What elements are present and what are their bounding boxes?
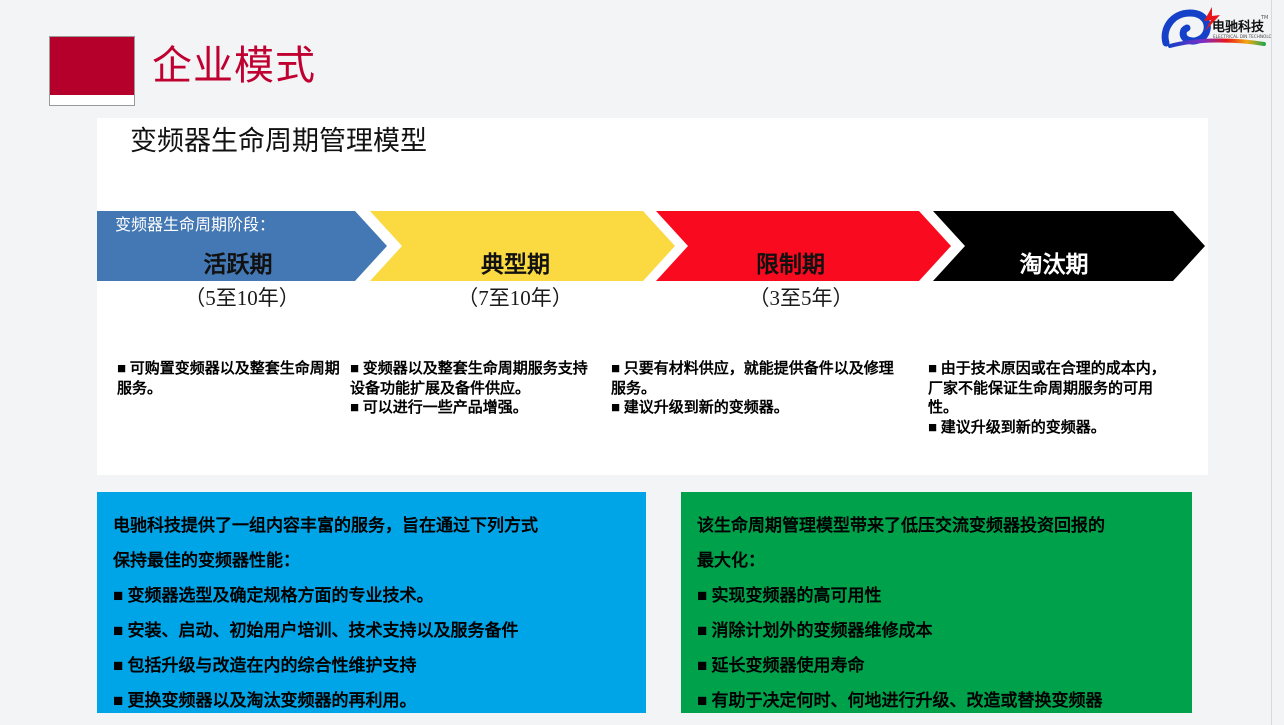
stage-years-active: （5至10年） [97,284,387,312]
stage-label-limited: 限制期 [656,251,951,279]
company-logo-icon: 电驰科技 ELECTRICAL DIN TECHNOLOGY TM [1160,3,1272,51]
services-lead-line-1: 电驰科技提供了一组内容丰富的服务，旨在通过下列方式 [113,508,632,543]
stage-detail-column-limited: ■ 只要有材料供应，就能提供备件以及修理服务。 ■ 建议升级到新的变频器。 [611,360,901,419]
stage-chevron-typical: 典型期 [370,211,675,281]
panel-heading: 变频器生命周期管理模型 [130,124,427,158]
stage-detail-bullet: ■ 变频器以及整套生命周期服务支持设备功能扩展及备件供应。 [350,360,598,399]
services-bullet: ■ 变频器选型及确定规格方面的专业技术。 [113,578,632,613]
benefits-bullet: ■ 有助于决定何时、何地进行升级、改造或替换变频器 [697,683,1178,713]
stage-detail-bullet: ■ 由于技术原因或在合理的成本内，厂家不能保证生命周期服务的可用性。 [928,360,1178,419]
vertical-scrollbar[interactable] [1273,0,1284,725]
benefits-bullet: ■ 实现变频器的高可用性 [697,578,1178,613]
benefits-bullet: ■ 消除计划外的变频器维修成本 [697,613,1178,648]
stage-detail-bullet: ■ 可以进行一些产品增强。 [350,399,598,419]
slide-canvas: 企业模式 电驰科技 ELECTRICAL DIN TECHNOLOGY TM [0,0,1272,725]
company-logo: 电驰科技 ELECTRICAL DIN TECHNOLOGY TM [1160,3,1272,51]
svg-text:ELECTRICAL DIN TECHNOLOGY: ELECTRICAL DIN TECHNOLOGY [1213,34,1272,39]
stage-years-limited: （3至5年） [656,284,946,312]
svg-text:TM: TM [1260,15,1268,21]
stage-chevron-obsolete: 淘汰期 [933,211,1205,281]
benefits-lead-line-2: 最大化： [697,543,1178,578]
services-bullet: ■ 更换变频器以及淘汰变频器的再利用。 [113,683,632,713]
stage-detail-column-typical: ■ 变频器以及整套生命周期服务支持设备功能扩展及备件供应。 ■ 可以进行一些产品… [350,360,598,419]
stage-bar-caption: 变频器生命周期阶段： [115,215,275,237]
stage-label-active: 活跃期 [97,251,387,279]
benefits-bullet: ■ 延长变频器使用寿命 [697,648,1178,683]
services-bullet: ■ 安装、启动、初始用户培训、技术支持以及服务备件 [113,613,632,648]
stage-detail-column-active: ■ 可购置变频器以及整套生命周期服务。 [117,360,347,399]
stage-detail-bullet: ■ 建议升级到新的变频器。 [611,399,901,419]
svg-text:电驰科技: 电驰科技 [1212,19,1265,35]
title-accent-fill [50,37,134,95]
slide-header: 企业模式 [0,0,1272,112]
stage-years-typical: （7至10年） [370,284,660,312]
services-summary-box: 电驰科技提供了一组内容丰富的服务，旨在通过下列方式 保持最佳的变频器性能： ■ … [97,492,646,713]
stage-label-typical: 典型期 [370,251,675,279]
title-accent-mark [49,36,135,106]
stage-detail-bullet: ■ 只要有材料供应，就能提供备件以及修理服务。 [611,360,901,399]
stage-detail-bullet: ■ 可购置变频器以及整套生命周期服务。 [117,360,347,399]
stage-detail-column-obsolete: ■ 由于技术原因或在合理的成本内，厂家不能保证生命周期服务的可用性。 ■ 建议升… [928,360,1178,438]
benefits-lead-line-1: 该生命周期管理模型带来了低压交流变频器投资回报的 [697,508,1178,543]
page-title: 企业模式 [152,40,316,92]
bottom-strip [0,713,1272,725]
services-lead-line-2: 保持最佳的变频器性能： [113,543,632,578]
services-bullet: ■ 包括升级与改造在内的综合性维护支持 [113,648,632,683]
stage-chevron-limited: 限制期 [656,211,951,281]
stage-detail-bullet: ■ 建议升级到新的变频器。 [928,419,1178,439]
stage-label-obsolete: 淘汰期 [933,251,1205,279]
benefits-summary-box: 该生命周期管理模型带来了低压交流变频器投资回报的 最大化： ■ 实现变频器的高可… [681,492,1192,713]
